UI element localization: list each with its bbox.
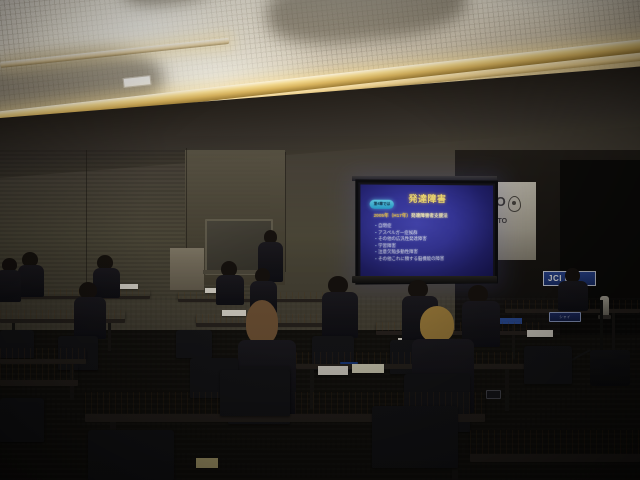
slide-headline-year: 2005年（H17年） [374,213,411,218]
smartphone [486,390,501,399]
chair [0,398,44,442]
table-edge [376,331,541,335]
person-body [558,281,588,311]
name-plate-text: シャイ [559,315,570,320]
person-body [18,265,44,297]
chair [176,330,212,358]
presentation-slide: 発達障害 第4章では 2005年（H17年）発達障害者支援法 自閉症 アスペルガ… [360,184,493,279]
chair [524,346,572,384]
chair-foreground [88,430,174,480]
person-body [0,270,21,302]
table-edge [470,454,640,462]
paper-document [352,364,384,373]
floor-item [196,458,218,468]
wall-seam [285,152,286,272]
table-leg [108,323,111,351]
bag [590,350,630,386]
jci-banner-text: JCI [548,275,562,283]
paper-document [222,310,246,316]
chair-foreground [372,406,458,468]
slide-badge: 第4章では [370,200,395,209]
banner-logo-icon [508,196,521,212]
person-body [322,292,358,338]
person-head [246,300,278,344]
slide-title: 発達障害 [408,192,446,205]
table-row3-left [0,348,86,359]
wall-seam [86,150,87,290]
table-row2-left [0,310,125,319]
slide-bullet: その他これに類する脳機能の障害 [374,256,445,263]
slide-headline: 2005年（H17年）発達障害者支援法 [374,213,486,219]
slide-bullet-list: 自閉症 アスペルガー症候群 その他の広汎性発達障害 学習障害 注意欠陥多動性障害… [374,223,445,263]
paper-document [318,366,348,375]
paper-document [527,330,553,337]
person-body [216,275,244,305]
side-cabinet [170,248,204,290]
person-head [420,306,454,342]
person-body [93,268,120,298]
table-row2-right [376,322,541,331]
seminar-room-photo: IO ATO 発達障害 第4章では 2005年（H17年）発達障害者支援法 自閉… [0,0,640,480]
table-foreground-right [470,430,640,454]
name-plate: シャイ [549,312,581,322]
paper-document [120,284,138,289]
pen [340,362,358,364]
table-row3-right [296,352,526,364]
slide-headline-main: 発達障害者支援法 [411,213,448,218]
table-foreground-left [0,364,78,380]
person-body [74,297,106,339]
chair [220,370,290,416]
table-edge [0,380,78,386]
table-leg [505,369,509,411]
projector-screen: 発達障害 第4章では 2005年（H17年）発達障害者支援法 自閉症 アスペルガ… [355,179,498,284]
table-edge [0,319,125,323]
